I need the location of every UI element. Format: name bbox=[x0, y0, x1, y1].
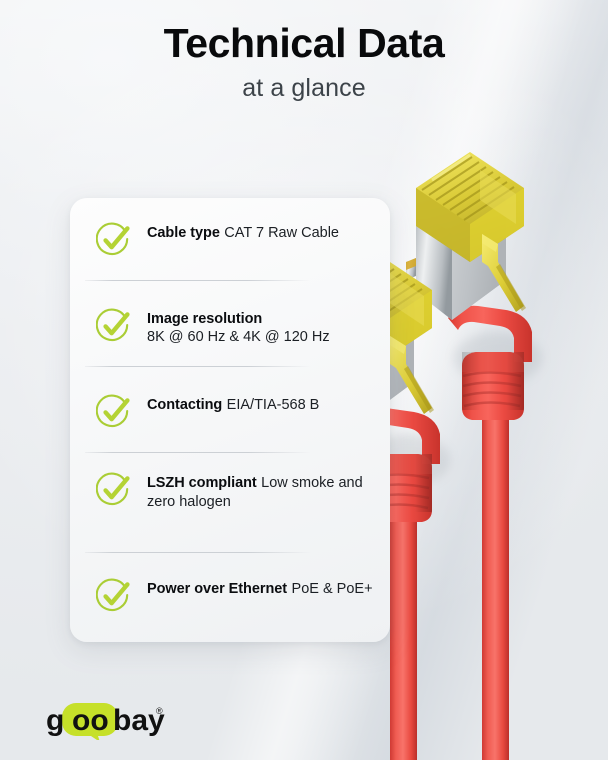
spec-value: PoE & PoE+ bbox=[292, 581, 373, 597]
spec-value: 8K @ 60 Hz & 4K @ 120 Hz bbox=[147, 329, 330, 345]
spec-value: CAT 7 Raw Cable bbox=[224, 225, 339, 241]
spec-value-line2: zero halogen bbox=[147, 494, 231, 510]
row-divider bbox=[85, 552, 311, 553]
row-divider bbox=[85, 366, 311, 367]
row-divider bbox=[85, 452, 311, 453]
spec-text: Power over Ethernet PoE & PoE+ bbox=[147, 578, 373, 599]
spec-value: EIA/TIA-568 B bbox=[227, 397, 320, 413]
spec-row-power-over-ethernet: Power over Ethernet PoE & PoE+ bbox=[70, 578, 390, 614]
header: Technical Data at a glance bbox=[0, 22, 608, 103]
logo-trademark: ® bbox=[156, 706, 163, 716]
page-title: Technical Data bbox=[0, 22, 608, 65]
check-circle-icon bbox=[96, 222, 132, 258]
spec-card: Cable type CAT 7 Raw Cable Image resolut… bbox=[70, 198, 390, 642]
check-circle-icon bbox=[96, 578, 132, 614]
spec-text: LSZH compliant Low smoke and zero haloge… bbox=[147, 472, 374, 512]
spec-title: LSZH compliant bbox=[147, 475, 257, 491]
poster-canvas: Technical Data at a glance bbox=[0, 0, 608, 760]
row-divider bbox=[85, 280, 311, 281]
check-circle-icon bbox=[96, 394, 132, 430]
spec-row-cable-type: Cable type CAT 7 Raw Cable bbox=[70, 222, 390, 258]
spec-text: Image resolution 8K @ 60 Hz & 4K @ 120 H… bbox=[147, 308, 374, 347]
page-subtitle: at a glance bbox=[0, 74, 608, 103]
spec-title: Cable type bbox=[147, 225, 220, 241]
logo-text-bubble: oo bbox=[72, 704, 109, 737]
check-circle-icon bbox=[96, 308, 132, 344]
check-circle-icon bbox=[96, 472, 132, 508]
logo-text-before: g bbox=[46, 704, 64, 737]
spec-title: Contacting bbox=[147, 397, 222, 413]
goobay-logo: g oo bay ® bbox=[46, 700, 166, 740]
spec-row-contacting: Contacting EIA/TIA-568 B bbox=[70, 394, 390, 430]
spec-text: Contacting EIA/TIA-568 B bbox=[147, 394, 319, 415]
spec-title: Power over Ethernet bbox=[147, 581, 287, 597]
spec-title: Image resolution bbox=[147, 311, 262, 327]
spec-value: Low smoke and bbox=[261, 475, 363, 491]
spec-text: Cable type CAT 7 Raw Cable bbox=[147, 222, 339, 243]
spec-row-lszh-compliant: LSZH compliant Low smoke and zero haloge… bbox=[70, 472, 390, 512]
spec-row-image-resolution: Image resolution 8K @ 60 Hz & 4K @ 120 H… bbox=[70, 308, 390, 347]
